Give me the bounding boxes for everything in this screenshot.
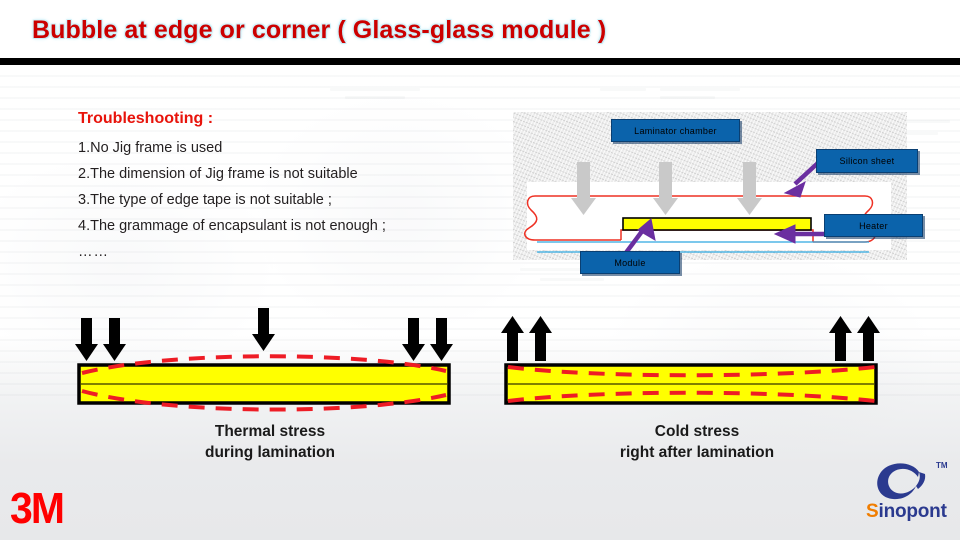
label-laminator-chamber[interactable]: Laminator chamber bbox=[611, 119, 740, 142]
thermal-stress-panel: Thermal stress during lamination bbox=[60, 305, 480, 475]
page-title: Bubble at edge or corner ( Glass-glass m… bbox=[32, 16, 606, 45]
up-arrow-icon bbox=[501, 316, 524, 361]
down-arrow-icon bbox=[75, 318, 98, 361]
troubleshooting-continuation: …… bbox=[78, 239, 478, 265]
background-text-fragment bbox=[540, 278, 604, 281]
slide-canvas: Bubble at edge or corner ( Glass-glass m… bbox=[0, 0, 960, 540]
logo-3m: 3M bbox=[10, 487, 63, 531]
cold-stress-panel: Cold stress right after lamination bbox=[487, 305, 907, 475]
logo-sinopont: TM Sinopont bbox=[866, 458, 954, 532]
cold-stress-caption: Cold stress right after lamination bbox=[487, 421, 907, 463]
down-arrow-group bbox=[75, 308, 453, 361]
label-heater[interactable]: Heater bbox=[824, 214, 923, 237]
down-arrow-icon bbox=[252, 308, 275, 351]
thermal-stress-illustration bbox=[60, 305, 480, 423]
caption-line-2: right after lamination bbox=[487, 442, 907, 463]
pressure-arrow-group bbox=[571, 162, 762, 215]
troubleshooting-heading: Troubleshooting : bbox=[78, 110, 478, 128]
pressure-arrow-icon bbox=[737, 162, 762, 215]
caption-line-1: Thermal stress bbox=[60, 421, 480, 442]
label-module[interactable]: Module bbox=[580, 251, 680, 274]
sinopont-swoosh-icon bbox=[872, 458, 934, 502]
up-arrow-group bbox=[501, 316, 880, 361]
troubleshooting-item-4: 4.The grammage of encapsulant is not eno… bbox=[78, 213, 478, 239]
caption-line-2: during lamination bbox=[60, 442, 480, 463]
background-text-fragment bbox=[600, 88, 646, 91]
background-text-fragment bbox=[330, 88, 420, 91]
troubleshooting-item-1: 1.No Jig frame is used bbox=[78, 135, 478, 161]
caption-line-1: Cold stress bbox=[487, 421, 907, 442]
up-arrow-icon bbox=[857, 316, 880, 361]
sinopont-initial: S bbox=[866, 501, 878, 522]
thermal-stress-caption: Thermal stress during lamination bbox=[60, 421, 480, 463]
troubleshooting-item-3: 3.The type of edge tape is not suitable … bbox=[78, 187, 478, 213]
background-text-fragment bbox=[345, 96, 405, 99]
troubleshooting-item-2: 2.The dimension of Jig frame is not suit… bbox=[78, 161, 478, 187]
title-divider bbox=[0, 58, 960, 65]
pressure-arrow-icon bbox=[653, 162, 678, 215]
up-arrow-icon bbox=[529, 316, 552, 361]
down-arrow-icon bbox=[430, 318, 453, 361]
sinopont-wordmark: Sinopont bbox=[866, 501, 947, 523]
sinopont-trademark: TM bbox=[936, 461, 948, 470]
background-text-fragment bbox=[660, 96, 715, 99]
slide-title-bar: Bubble at edge or corner ( Glass-glass m… bbox=[0, 0, 960, 58]
sinopont-rest: inopont bbox=[878, 501, 946, 522]
label-silicon-sheet[interactable]: Silicon sheet bbox=[816, 149, 918, 173]
cold-stress-illustration bbox=[487, 305, 907, 423]
up-arrow-icon bbox=[829, 316, 852, 361]
pressure-arrow-icon bbox=[571, 162, 596, 215]
silicon-sheet-membrane bbox=[525, 196, 621, 240]
troubleshooting-block: Troubleshooting : 1.No Jig frame is used… bbox=[78, 110, 478, 265]
down-arrow-icon bbox=[402, 318, 425, 361]
background-text-fragment bbox=[660, 88, 740, 91]
down-arrow-icon bbox=[103, 318, 126, 361]
